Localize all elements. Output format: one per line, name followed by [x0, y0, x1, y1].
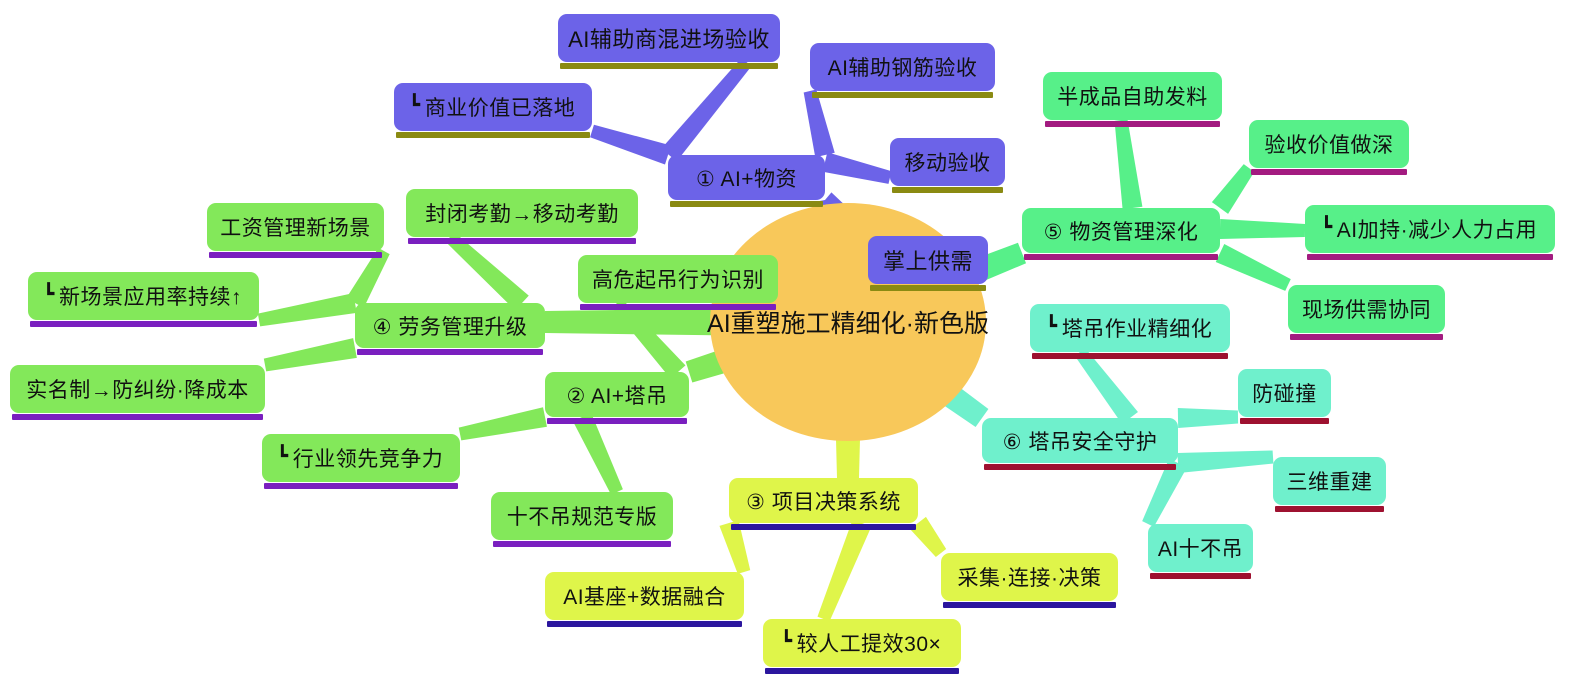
collect-connect-decide-label: 采集·连接·决策 — [944, 562, 1116, 592]
node-underline — [984, 464, 1176, 470]
ai-concrete-acceptance-label: AI辅助商混进场验收 — [554, 22, 784, 54]
salary-management-new-scene[interactable]: 工资管理新场景 — [207, 203, 384, 251]
branch-4-main-node-label: ④ 劳务管理升级 — [359, 311, 542, 341]
node-underline — [1150, 573, 1251, 579]
node-underline — [1240, 418, 1329, 424]
node-underline — [670, 201, 823, 207]
crane-operation-refinement-label: 塔吊作业精细化 — [1060, 313, 1227, 343]
node-underline — [264, 483, 458, 489]
branch-3-main-node-label: ③ 项目决策系统 — [732, 486, 915, 516]
anti-collision[interactable]: 防碰撞 — [1238, 369, 1331, 417]
closed-to-mobile-attendance-label: 封闭考勤→移动考勤 — [411, 198, 633, 228]
node-underline — [1275, 506, 1384, 512]
branch-1-main-node[interactable]: ① AI+物资 — [668, 155, 825, 200]
new-scene-adoption-rising[interactable]: ┗新场景应用率持续↑ — [28, 272, 259, 320]
node-underline — [493, 541, 671, 547]
sub-bullet-icon: ┗ — [31, 285, 57, 304]
node-underline — [547, 418, 687, 424]
node-underline — [357, 349, 543, 355]
branch-2-main-node[interactable]: ② AI+塔吊 — [545, 372, 689, 417]
node-underline — [812, 92, 993, 98]
node-underline — [1290, 334, 1443, 340]
mobile-acceptance-label: 移动验收 — [891, 147, 1005, 177]
three-d-reconstruction[interactable]: 三维重建 — [1273, 457, 1386, 505]
branch-6-main-node-label: ⑥ 塔吊安全守护 — [989, 426, 1172, 456]
ai-rebar-acceptance[interactable]: AI辅助钢筋验收 — [810, 43, 995, 91]
sub-bullet-icon: ┗ — [769, 632, 795, 651]
commercial-value-landed[interactable]: ┗商业价值已落地 — [394, 83, 592, 131]
branch-5-main-node-label: ⑤ 物资管理深化 — [1030, 216, 1213, 246]
crane-operation-refinement[interactable]: ┗塔吊作业精细化 — [1030, 304, 1230, 352]
sub-bullet-icon: ┗ — [1309, 218, 1335, 237]
palm-supply-demand-label: 掌上供需 — [869, 244, 987, 276]
real-name-dispute-cost[interactable]: 实名制→防纠纷·降成本 — [10, 365, 265, 413]
node-underline — [209, 252, 382, 258]
ai-base-data-fusion[interactable]: AI基座+数据融合 — [545, 572, 744, 620]
acceptance-value-deepening-label: 验收价值做深 — [1251, 129, 1408, 159]
node-layer: AI重塑施工精细化·新色版 ① AI+物资AI辅助商混进场验收┗商业价值已落地A… — [0, 0, 1571, 685]
node-underline — [870, 285, 986, 291]
branch-3-main-node[interactable]: ③ 项目决策系统 — [729, 478, 918, 523]
node-underline — [1024, 254, 1218, 260]
semi-finished-self-issue[interactable]: 半成品自助发料 — [1043, 72, 1222, 120]
node-underline — [547, 621, 742, 627]
node-underline — [1032, 353, 1228, 359]
node-underline — [1045, 121, 1220, 127]
branch-1-main-node-label: ① AI+物资 — [682, 163, 811, 193]
node-underline — [1251, 169, 1407, 175]
industry-leading-competitiveness[interactable]: ┗行业领先竞争力 — [262, 434, 460, 482]
ai-ten-no-lift[interactable]: AI十不吊 — [1148, 524, 1253, 572]
sub-bullet-icon: ┗ — [1034, 317, 1060, 336]
high-risk-lifting-recognition-label: 高危起吊行为识别 — [578, 264, 778, 294]
branch-5-main-node[interactable]: ⑤ 物资管理深化 — [1022, 208, 1220, 253]
collect-connect-decide[interactable]: 采集·连接·决策 — [941, 553, 1118, 601]
acceptance-value-deepening[interactable]: 验收价值做深 — [1249, 120, 1409, 168]
mobile-acceptance[interactable]: 移动验收 — [890, 138, 1005, 186]
ai-concrete-acceptance[interactable]: AI辅助商混进场验收 — [558, 14, 780, 62]
ten-no-lift-standard-edition[interactable]: 十不吊规范专版 — [491, 492, 673, 540]
node-underline — [765, 668, 959, 674]
node-underline — [12, 414, 263, 420]
ai-base-data-fusion-label: AI基座+数据融合 — [549, 581, 740, 611]
node-underline — [396, 132, 590, 138]
palm-supply-demand[interactable]: 掌上供需 — [868, 236, 988, 284]
real-name-dispute-cost-label: 实名制→防纠纷·降成本 — [12, 374, 263, 404]
ten-no-lift-standard-edition-label: 十不吊规范专版 — [493, 501, 672, 531]
high-risk-lifting-recognition[interactable]: 高危起吊行为识别 — [578, 255, 778, 303]
branch-6-main-node[interactable]: ⑥ 塔吊安全守护 — [982, 418, 1178, 463]
ai-ten-no-lift-label: AI十不吊 — [1144, 533, 1257, 563]
node-underline — [408, 238, 636, 244]
sub-bullet-icon: ┗ — [265, 447, 291, 466]
ai-rebar-acceptance-label: AI辅助钢筋验收 — [814, 52, 992, 82]
branch-4-main-node[interactable]: ④ 劳务管理升级 — [355, 303, 545, 348]
efficiency-30x-label: 较人工提效30× — [795, 628, 956, 658]
node-underline — [560, 63, 778, 69]
efficiency-30x[interactable]: ┗较人工提效30× — [763, 619, 961, 667]
node-underline — [30, 321, 257, 327]
closed-to-mobile-attendance[interactable]: 封闭考勤→移动考勤 — [406, 189, 638, 237]
node-underline — [580, 304, 776, 310]
ai-reduce-manpower[interactable]: ┗AI加持·减少人力占用 — [1305, 205, 1555, 253]
onsite-supply-demand-sync-label: 现场供需协同 — [1288, 294, 1445, 324]
node-underline — [943, 602, 1116, 608]
commercial-value-landed-label: 商业价值已落地 — [423, 92, 590, 122]
new-scene-adoption-rising-label: 新场景应用率持续↑ — [57, 281, 256, 311]
salary-management-new-scene-label: 工资管理新场景 — [206, 212, 385, 242]
anti-collision-label: 防碰撞 — [1238, 378, 1331, 408]
ai-reduce-manpower-label: AI加持·减少人力占用 — [1335, 214, 1551, 244]
branch-2-main-node-label: ② AI+塔吊 — [552, 380, 681, 410]
mindmap-canvas: AI重塑施工精细化·新色版 ① AI+物资AI辅助商混进场验收┗商业价值已落地A… — [0, 0, 1571, 685]
node-underline — [731, 524, 916, 530]
industry-leading-competitiveness-label: 行业领先竞争力 — [291, 443, 458, 473]
three-d-reconstruction-label: 三维重建 — [1273, 466, 1387, 496]
semi-finished-self-issue-label: 半成品自助发料 — [1043, 81, 1222, 111]
node-underline — [1307, 254, 1553, 260]
node-underline — [892, 187, 1003, 193]
sub-bullet-icon: ┗ — [397, 96, 423, 115]
onsite-supply-demand-sync[interactable]: 现场供需协同 — [1288, 285, 1445, 333]
